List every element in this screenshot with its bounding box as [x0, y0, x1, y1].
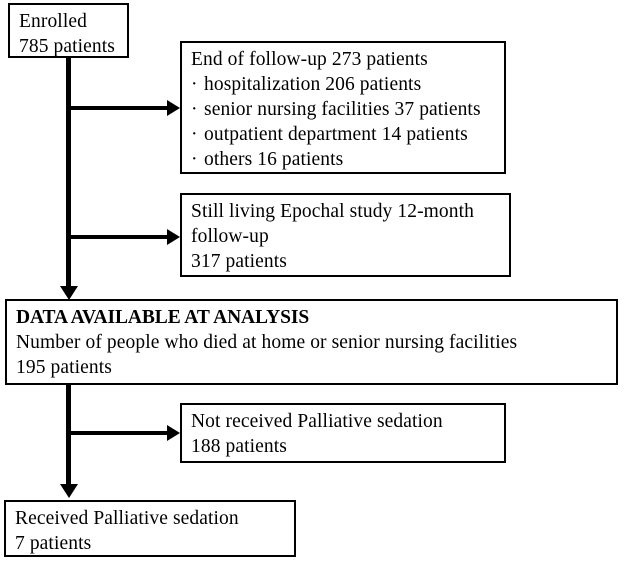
- node-end-of-followup-body: End of follow-up 273 patients ·hospitali…: [182, 43, 504, 176]
- node-still-living-line-3: 317 patients: [191, 249, 502, 274]
- bullet-text: hospitalization 206 patients: [204, 74, 421, 95]
- node-not-received-sedation-line-1: Not received Palliative sedation: [191, 409, 497, 434]
- node-data-available-heading: DATA AVAILABLE AT ANALYSIS: [16, 305, 609, 330]
- bullet-icon: ·: [191, 97, 204, 122]
- node-still-living-line-1: Still living Epochal study 12-month: [191, 199, 502, 224]
- node-still-living-line-2: follow-up: [191, 224, 502, 249]
- bullet-text: outpatient department 14 patients: [204, 124, 468, 145]
- bullet-text: senior nursing facilities 37 patients: [204, 99, 481, 120]
- arrowhead-right-to-end-of-followup: [167, 100, 180, 116]
- node-enrolled-line-1: Enrolled: [19, 9, 120, 34]
- node-received-sedation-line-2: 7 patients: [15, 531, 287, 556]
- node-end-of-followup-bullet-4: ·others 16 patients: [191, 147, 497, 172]
- node-enrolled-body: Enrolled 785 patients: [10, 5, 127, 63]
- arrowhead-down-to-data-available: [60, 286, 78, 300]
- node-still-living-body: Still living Epochal study 12-month foll…: [182, 195, 509, 278]
- node-not-received-sedation-body: Not received Palliative sedation 188 pat…: [182, 405, 504, 463]
- node-end-of-followup-heading: End of follow-up 273 patients: [191, 47, 497, 72]
- node-not-received-sedation: Not received Palliative sedation 188 pat…: [180, 403, 506, 463]
- node-received-sedation-body: Received Palliative sedation 7 patients: [6, 502, 294, 560]
- bullet-text: others 16 patients: [204, 149, 343, 170]
- node-not-received-sedation-line-2: 188 patients: [191, 434, 497, 459]
- node-end-of-followup-bullet-2: ·senior nursing facilities 37 patients: [191, 97, 497, 122]
- node-data-available-body: DATA AVAILABLE AT ANALYSIS Number of peo…: [7, 301, 616, 384]
- arrowhead-right-to-not-received-sedation: [167, 425, 180, 441]
- bullet-icon: ·: [191, 72, 204, 97]
- node-data-available-line-1: Number of people who died at home or sen…: [16, 330, 609, 355]
- flowchart-canvas: Enrolled 785 patients End of follow-up 2…: [0, 0, 626, 561]
- node-received-sedation-line-1: Received Palliative sedation: [15, 506, 287, 531]
- bullet-icon: ·: [191, 122, 204, 147]
- connector-trunk-lower: [66, 385, 71, 487]
- node-enrolled: Enrolled 785 patients: [8, 3, 129, 58]
- node-still-living: Still living Epochal study 12-month foll…: [180, 193, 511, 277]
- connector-branch-end-of-followup: [66, 106, 169, 110]
- connector-branch-still-living: [66, 235, 169, 239]
- arrowhead-right-to-still-living: [167, 229, 180, 245]
- bullet-icon: ·: [191, 147, 204, 172]
- node-enrolled-line-2: 785 patients: [19, 34, 120, 59]
- node-data-available-line-2: 195 patients: [16, 355, 609, 380]
- node-data-available: DATA AVAILABLE AT ANALYSIS Number of peo…: [5, 299, 618, 385]
- node-end-of-followup: End of follow-up 273 patients ·hospitali…: [180, 41, 506, 174]
- arrowhead-down-to-received-sedation: [60, 484, 78, 498]
- connector-trunk-upper: [66, 57, 71, 289]
- node-end-of-followup-bullet-3: ·outpatient department 14 patients: [191, 122, 497, 147]
- node-end-of-followup-bullet-1: ·hospitalization 206 patients: [191, 72, 497, 97]
- node-received-sedation: Received Palliative sedation 7 patients: [4, 500, 296, 557]
- connector-branch-not-received: [66, 431, 169, 435]
